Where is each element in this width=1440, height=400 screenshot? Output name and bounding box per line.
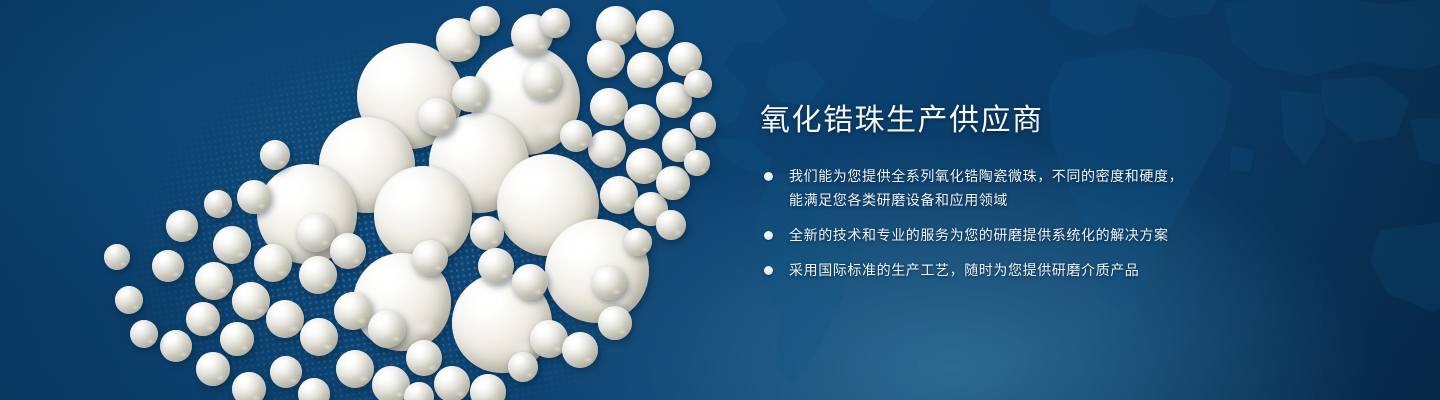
banner-headline: 氧化锆珠生产供应商 — [760, 104, 1360, 138]
feature-bullet-list: 我们能为您提供全系列氧化锆陶瓷微珠，不同的密度和硬度， 能满足您各类研磨设备和应… — [760, 164, 1360, 282]
bullet-dot-icon — [764, 231, 773, 240]
feature-bullet-text: 我们能为您提供全系列氧化锆陶瓷微珠，不同的密度和硬度， — [789, 164, 1360, 188]
feature-bullet-item: 我们能为您提供全系列氧化锆陶瓷微珠，不同的密度和硬度， 能满足您各类研磨设备和应… — [760, 164, 1360, 212]
feature-bullet-text: 能满足您各类研磨设备和应用领域 — [789, 188, 1360, 212]
feature-bullet-item: 采用国际标准的生产工艺，随时为您提供研磨介质产品 — [760, 258, 1360, 282]
banner-copy: 氧化锆珠生产供应商 我们能为您提供全系列氧化锆陶瓷微珠，不同的密度和硬度， 能满… — [760, 104, 1360, 282]
bullet-dot-icon — [764, 172, 773, 181]
feature-bullet-text: 全新的技术和专业的服务为您的研磨提供系统化的解决方案 — [789, 223, 1360, 247]
feature-bullet-text: 采用国际标准的生产工艺，随时为您提供研磨介质产品 — [789, 258, 1360, 282]
bullet-dot-icon — [764, 266, 773, 275]
hero-banner: 氧化锆珠生产供应商 我们能为您提供全系列氧化锆陶瓷微珠，不同的密度和硬度， 能满… — [0, 0, 1440, 400]
feature-bullet-item: 全新的技术和专业的服务为您的研磨提供系统化的解决方案 — [760, 223, 1360, 247]
